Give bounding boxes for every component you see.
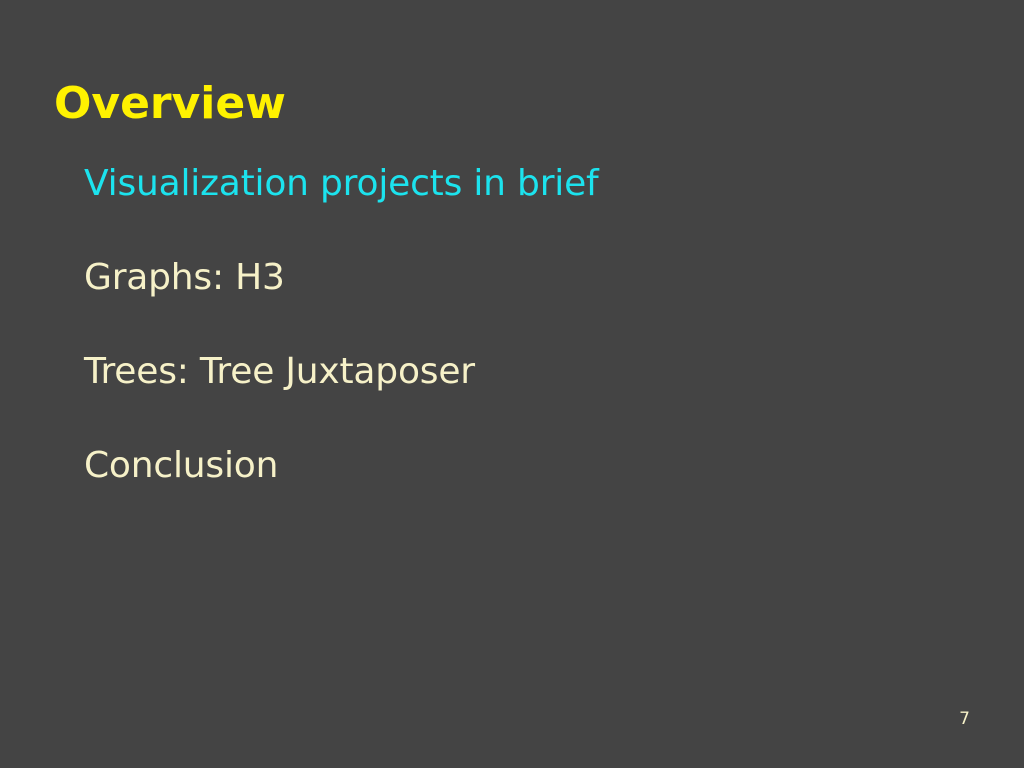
list-item: Trees: Tree Juxtaposer: [84, 354, 944, 448]
overview-agenda-list: Visualization projects in brief Graphs: …: [84, 166, 944, 542]
presentation-slide: Overview Visualization projects in brief…: [0, 0, 1024, 768]
list-item: Conclusion: [84, 448, 944, 542]
list-item: Visualization projects in brief: [84, 166, 944, 260]
page-title: Overview: [54, 82, 286, 126]
page-number: 7: [959, 711, 970, 728]
list-item: Graphs: H3: [84, 260, 944, 354]
